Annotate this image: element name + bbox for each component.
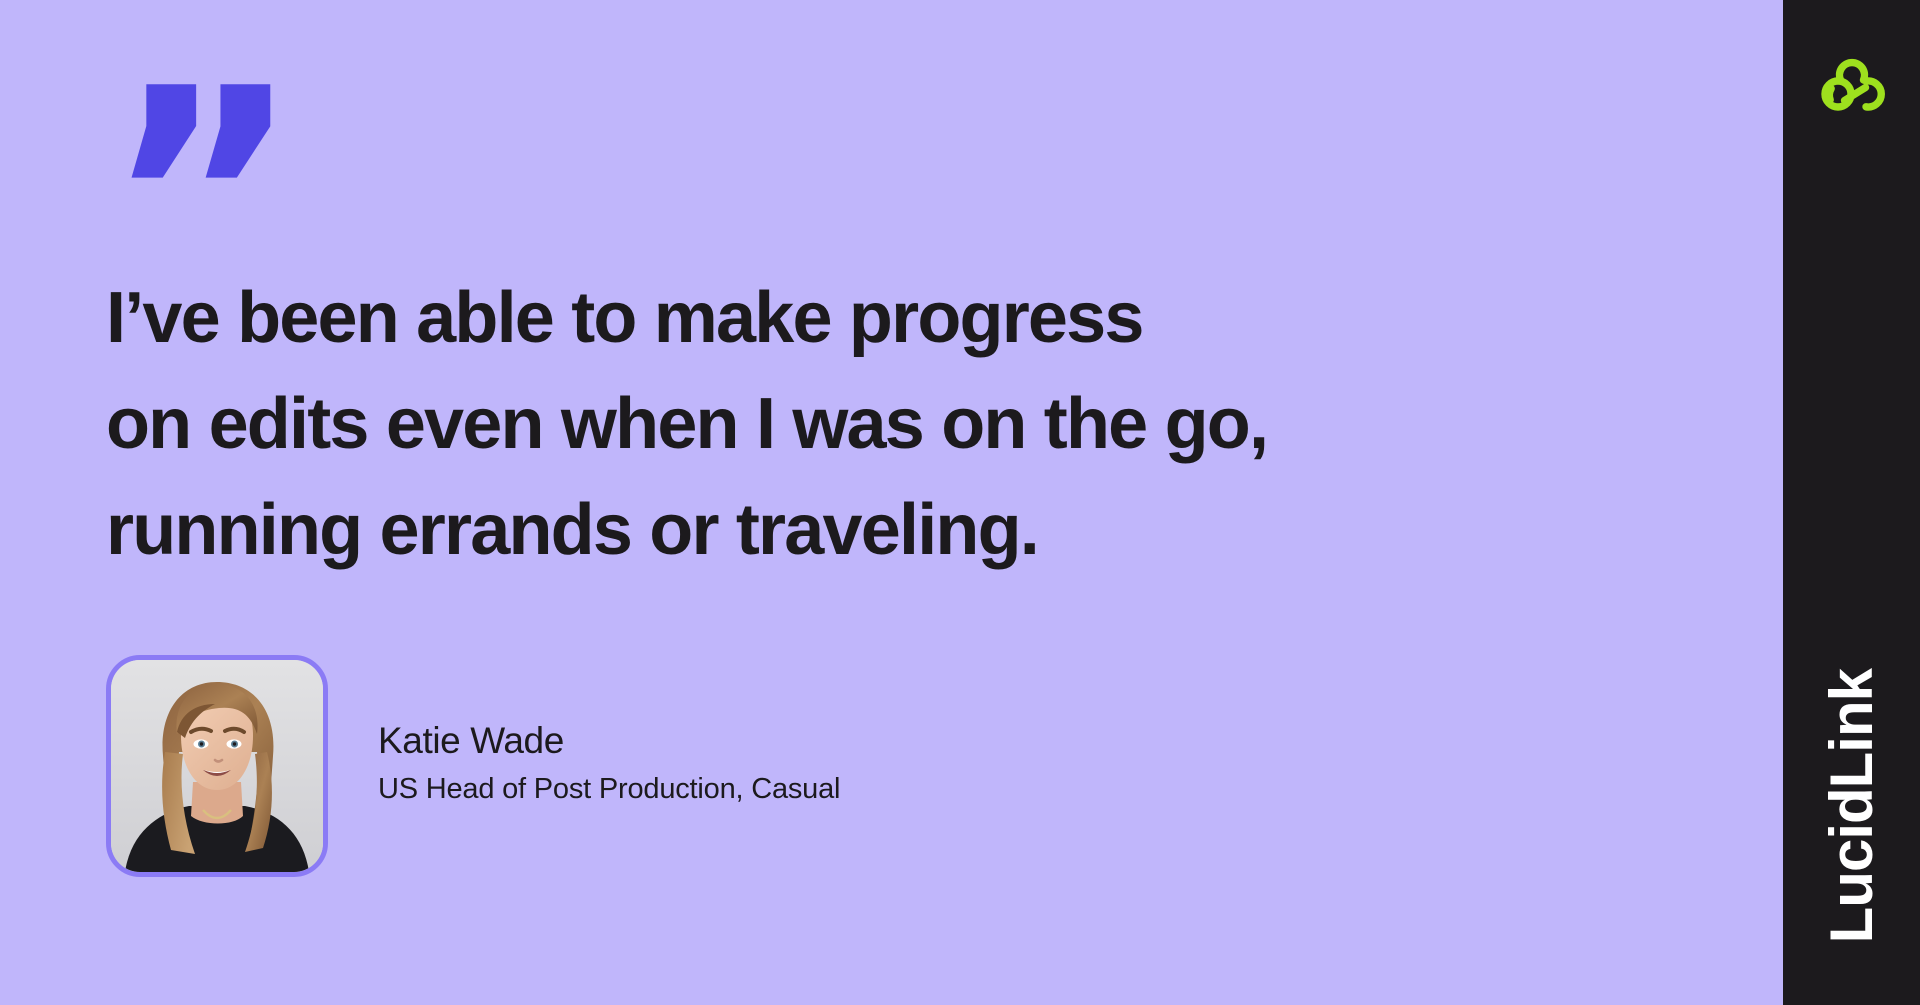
- quote-text: I’ve been able to make progress on edits…: [106, 265, 1706, 583]
- quote-line-3: running errands or traveling.: [106, 477, 1706, 583]
- attribution-text: Katie Wade US Head of Post Production, C…: [378, 717, 840, 815]
- avatar: [106, 655, 328, 877]
- attribution: Katie Wade US Head of Post Production, C…: [106, 655, 840, 877]
- person-name: Katie Wade: [378, 717, 840, 765]
- lucidlink-logo-icon: [1818, 52, 1886, 116]
- testimonial-card: ” I’ve been able to make progress on edi…: [0, 0, 1783, 1005]
- person-role: US Head of Post Production, Casual: [378, 769, 840, 809]
- quote-line-1: I’ve been able to make progress: [106, 265, 1706, 371]
- quote-line-2: on edits even when I was on the go,: [106, 371, 1706, 477]
- brand-wordmark: LucidLink: [1822, 669, 1882, 943]
- brand-rail: LucidLink: [1783, 0, 1920, 1005]
